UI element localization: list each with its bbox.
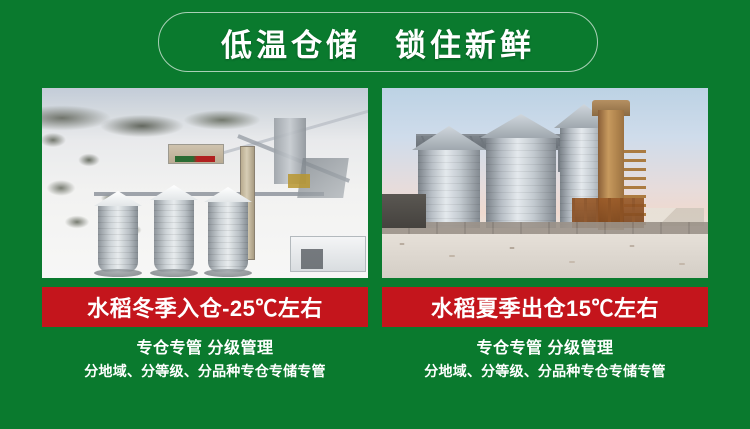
- header-band: 低温仓储 锁住新鲜: [0, 0, 750, 88]
- banner-summer-text: 水稻夏季出仓15℃左右: [431, 291, 659, 323]
- caption-summer-line-2: 分地域、分等级、分品种专仓专储专管: [382, 362, 708, 382]
- caption-winter-line-2: 分地域、分等级、分品种专仓专储专管: [42, 362, 368, 382]
- caption-winter-line-1: 专仓专管 分级管理: [42, 338, 368, 360]
- photo-summer-silos: [382, 88, 708, 278]
- site-shed-shape: [168, 144, 224, 164]
- silo-shape-a: [418, 148, 480, 228]
- banner-winter-text: 水稻冬季入仓-25℃左右: [87, 291, 323, 323]
- gravel-ground-shape: [382, 234, 708, 278]
- silo-shape-2: [154, 198, 194, 272]
- page-title-part-2: 锁住新鲜: [395, 20, 535, 65]
- banner-winter: 水稻冬季入仓-25℃左右: [42, 287, 368, 327]
- banner-summer: 水稻夏季出仓15℃左右: [382, 287, 708, 327]
- panel-row: 水稻冬季入仓-25℃左右 专仓专管 分级管理 分地域、分等级、分品种专仓专储专管: [0, 88, 750, 429]
- promo-poster: 低温仓储 锁住新鲜 水: [0, 0, 750, 429]
- silo-shape-1: [98, 204, 138, 272]
- panel-winter: 水稻冬季入仓-25℃左右 专仓专管 分级管理 分地域、分等级、分品种专仓专储专管: [42, 88, 368, 381]
- caption-summer-line-1: 专仓专管 分级管理: [382, 338, 708, 360]
- captions-summer: 专仓专管 分级管理 分地域、分等级、分品种专仓专储专管: [382, 338, 708, 381]
- page-title-part-1: 低温仓储: [221, 20, 361, 65]
- page-title: 低温仓储 锁住新鲜: [158, 12, 598, 72]
- conveyor-bridge-shape: [94, 192, 324, 196]
- side-container-shape: [382, 194, 426, 228]
- warehouse-building-shape: [290, 236, 366, 272]
- silo-shape-3: [208, 200, 248, 272]
- yellow-machine-shape: [288, 174, 310, 188]
- panel-summer: 水稻夏季出仓15℃左右 专仓专管 分级管理 分地域、分等级、分品种专仓专储专管: [382, 88, 708, 381]
- photo-winter-silos: [42, 88, 368, 278]
- silo-shape-b: [486, 136, 556, 228]
- captions-winter: 专仓专管 分级管理 分地域、分等级、分品种专仓专储专管: [42, 338, 368, 381]
